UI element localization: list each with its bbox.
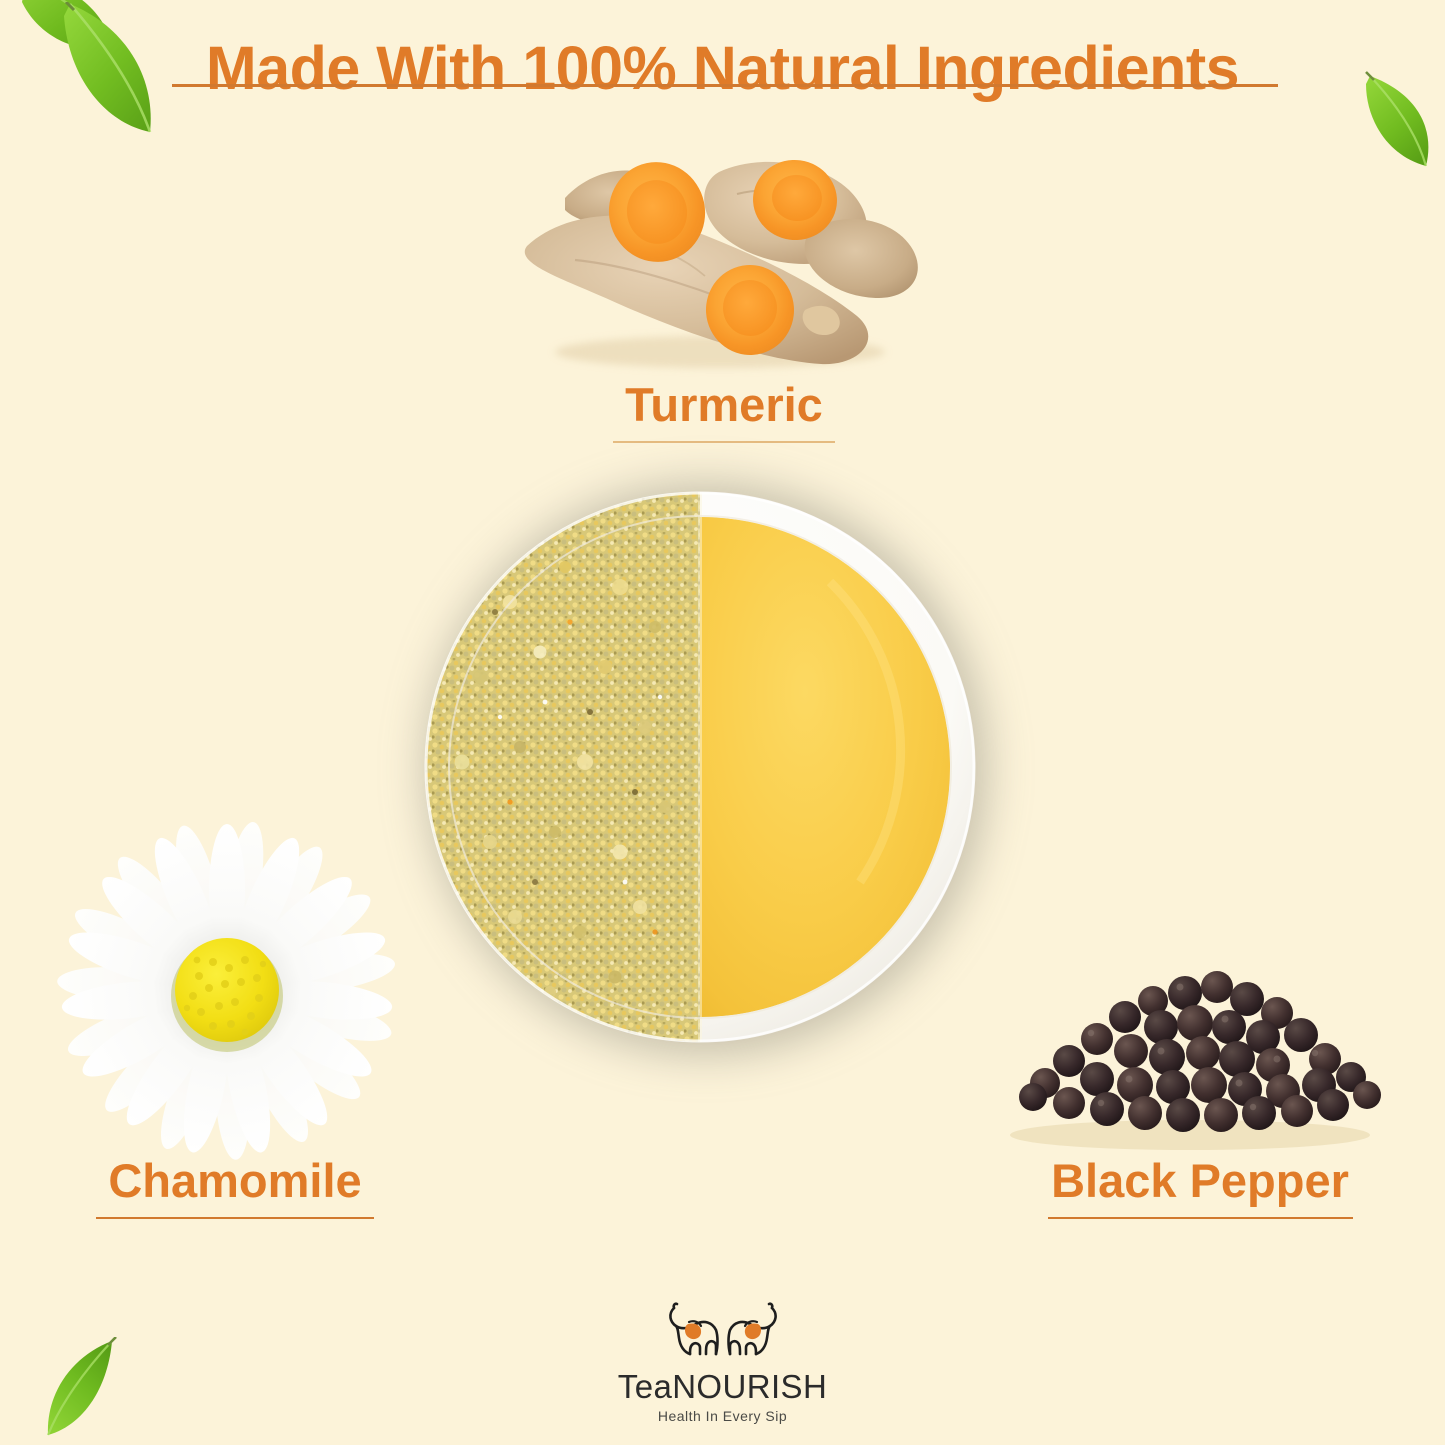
chamomile-flower-image bbox=[55, 818, 400, 1163]
ingredient-label-turmeric-underline bbox=[613, 441, 835, 443]
infographic-canvas: Made With 100% Natural Ingredients bbox=[0, 0, 1445, 1445]
logo-wordmark: TeaNOURISH bbox=[0, 1370, 1445, 1405]
page-title-text: Made With 100% Natural Ingredients bbox=[206, 34, 1239, 102]
ingredient-label-black-pepper-underline bbox=[1048, 1217, 1353, 1219]
black-peppercorns-image bbox=[985, 935, 1395, 1160]
page-title-underline bbox=[172, 84, 1278, 87]
ingredient-label-chamomile-text: Chamomile bbox=[15, 1157, 455, 1204]
two-elephants-icon bbox=[648, 1300, 798, 1368]
ingredient-label-turmeric-text: Turmeric bbox=[484, 381, 964, 428]
brand-logo: TeaNOURISH Health In Every Sip bbox=[0, 1300, 1445, 1424]
ingredient-label-turmeric: Turmeric bbox=[484, 381, 964, 443]
ingredient-label-black-pepper: Black Pepper bbox=[965, 1157, 1435, 1219]
split-bowl-image bbox=[390, 462, 1010, 1082]
turmeric-image bbox=[505, 128, 935, 378]
logo-wordmark-tea: Tea bbox=[618, 1368, 672, 1405]
logo-tagline: Health In Every Sip bbox=[0, 1408, 1445, 1424]
ingredient-label-chamomile: Chamomile bbox=[15, 1157, 455, 1219]
ingredient-label-black-pepper-text: Black Pepper bbox=[965, 1157, 1435, 1204]
logo-wordmark-nourish: NOURISH bbox=[672, 1368, 827, 1405]
page-title: Made With 100% Natural Ingredients bbox=[0, 34, 1445, 102]
ingredient-label-chamomile-underline bbox=[96, 1217, 374, 1219]
